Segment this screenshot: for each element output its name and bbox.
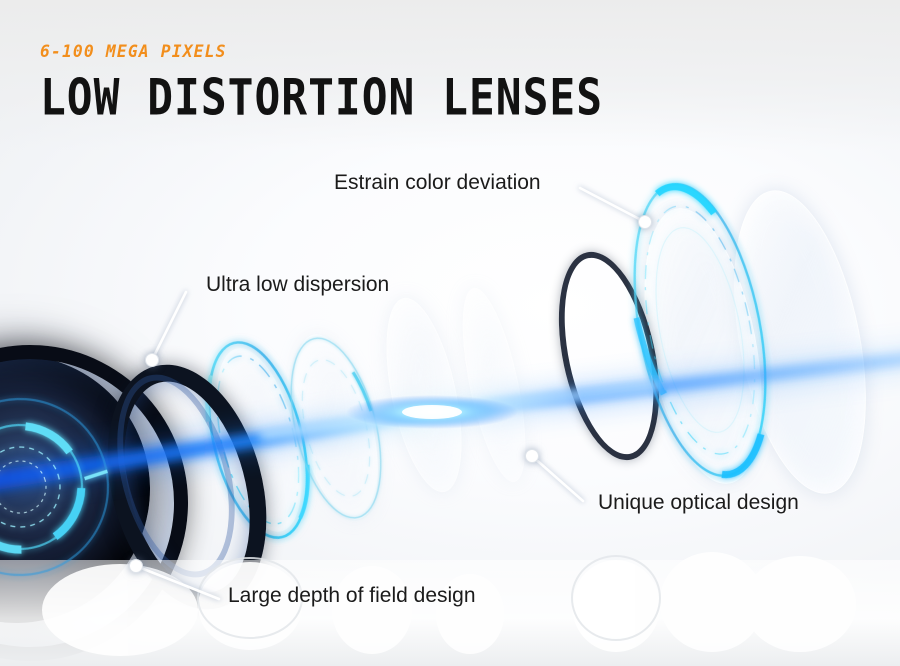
callout-label-estrain-color-deviation: Estrain color deviation — [334, 172, 541, 193]
callout-label-unique-optical-design: Unique optical design — [598, 492, 799, 513]
lens-promo-banner: Estrain color deviation Ultra low disper… — [0, 0, 900, 666]
kicker-text: 6-100 MEGA PIXELS — [40, 44, 570, 61]
page-title: LOW DISTORTION LENSES — [40, 73, 603, 123]
callout-label-ultra-low-dispersion: Ultra low dispersion — [206, 274, 389, 295]
callout-label-large-depth-of-field-design: Large depth of field design — [228, 585, 476, 606]
heading-block: 6-100 MEGA PIXELS LOW DISTORTION LENSES — [40, 44, 592, 115]
